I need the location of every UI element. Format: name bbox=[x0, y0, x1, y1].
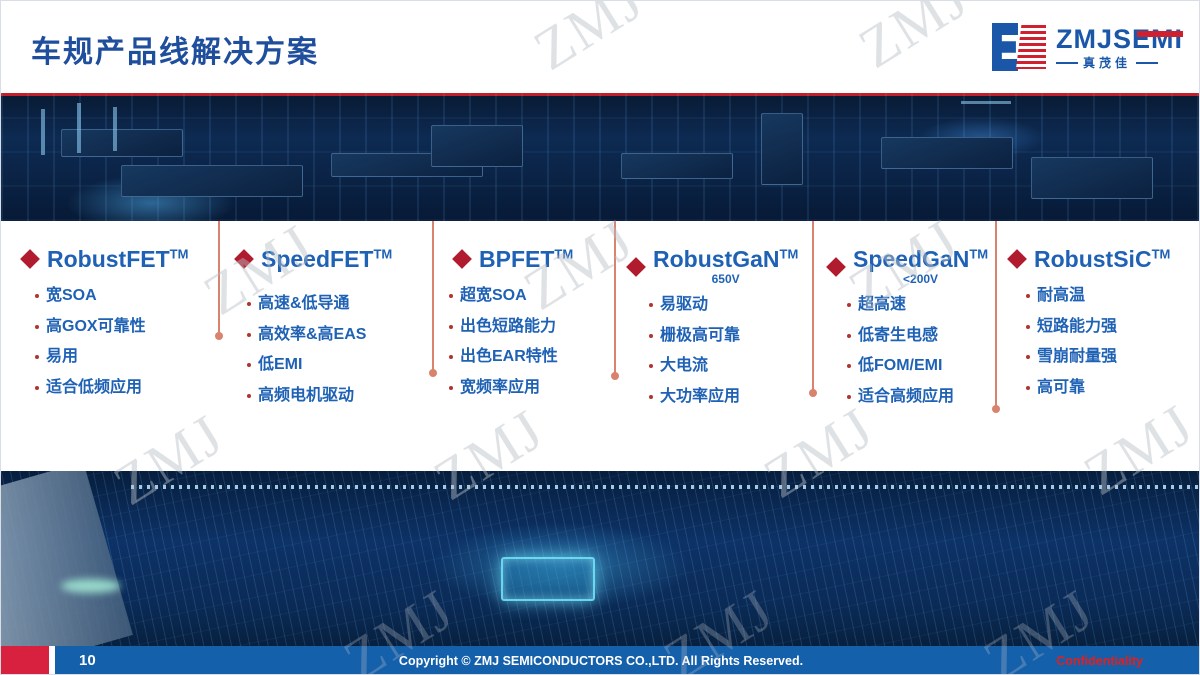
divider-knob-icon bbox=[611, 372, 619, 380]
bullet-dot-icon bbox=[449, 325, 453, 329]
logo-wordmark: ZMJSEMI bbox=[1056, 26, 1183, 53]
feature-list: 超宽SOA 出色短路能力 出色EAR特性 宽频率应用 bbox=[449, 287, 615, 396]
feature-item: 出色EAR特性 bbox=[449, 348, 615, 366]
feature-text: 适合高频应用 bbox=[858, 388, 954, 406]
feature-text: 低FOM/EMI bbox=[858, 357, 942, 375]
feature-list: 耐高温 短路能力强 雪崩耐量强 高可靠 bbox=[1026, 287, 1200, 396]
column-title-block: SpeedGaNTM <200V bbox=[853, 247, 988, 286]
bullet-dot-icon bbox=[847, 334, 851, 338]
bullet-dot-icon bbox=[847, 364, 851, 368]
feature-item: 宽SOA bbox=[35, 287, 219, 305]
column-header: RobustGaNTM 650V bbox=[629, 221, 813, 286]
top-pcb-traces bbox=[1, 93, 1200, 221]
feature-item: 短路能力强 bbox=[1026, 318, 1200, 336]
column-title-block: BPFETTM bbox=[479, 247, 573, 271]
diamond-bullet-icon bbox=[20, 249, 40, 269]
column-divider bbox=[432, 221, 434, 373]
feature-text: 耐高温 bbox=[1037, 287, 1085, 305]
divider-knob-icon bbox=[429, 369, 437, 377]
feature-text: 短路能力强 bbox=[1037, 318, 1117, 336]
product-columns: RobustFETTM 宽SOA 高GOX可靠性 易用 适合低频应用 Speed… bbox=[1, 221, 1200, 471]
product-voltage: 650V bbox=[712, 272, 740, 286]
logo-e-shape bbox=[992, 23, 1018, 71]
company-logo: ZMJSEMI 真茂佳 bbox=[992, 19, 1183, 75]
feature-text: 出色EAR特性 bbox=[460, 348, 558, 366]
feature-text: 高频电机驱动 bbox=[258, 387, 354, 405]
logo-rule-right bbox=[1136, 62, 1158, 64]
bullet-dot-icon bbox=[35, 355, 39, 359]
column-header: RobustFETTM bbox=[23, 221, 219, 271]
bullet-dot-icon bbox=[35, 294, 39, 298]
bullet-dot-icon bbox=[1026, 355, 1030, 359]
slide: 车规产品线解决方案 ZMJSEMI 真茂佳 bbox=[0, 0, 1200, 675]
bullet-dot-icon bbox=[649, 334, 653, 338]
feature-text: 易驱动 bbox=[660, 296, 708, 314]
feature-item: 低寄生电感 bbox=[847, 327, 996, 345]
feature-item: 高效率&高EAS bbox=[247, 326, 433, 344]
logo-chinese-name: 真茂佳 bbox=[1056, 57, 1183, 69]
bullet-dot-icon bbox=[847, 395, 851, 399]
product-column-robustgan[interactable]: RobustGaNTM 650V 易驱动 栅极高可靠 大电流 大功率应用 bbox=[615, 221, 813, 471]
column-divider bbox=[218, 221, 220, 336]
feature-text: 超高速 bbox=[858, 296, 906, 314]
bullet-dot-icon bbox=[649, 395, 653, 399]
diamond-bullet-icon bbox=[626, 257, 646, 277]
page-title: 车规产品线解决方案 bbox=[31, 27, 319, 71]
diamond-bullet-icon bbox=[234, 249, 254, 269]
feature-item: 耐高温 bbox=[1026, 287, 1200, 305]
top-circuit-image bbox=[1, 93, 1200, 221]
column-title-block: RobustGaNTM 650V bbox=[653, 247, 798, 286]
feature-text: 宽频率应用 bbox=[460, 379, 540, 397]
decor-chip bbox=[121, 165, 303, 197]
product-name: RobustSiCTM bbox=[1034, 247, 1170, 271]
feature-text: 宽SOA bbox=[46, 287, 97, 305]
feature-text: 栅极高可靠 bbox=[660, 327, 740, 345]
feature-item: 易驱动 bbox=[649, 296, 813, 314]
diamond-bullet-icon bbox=[826, 257, 846, 277]
decor-pin bbox=[41, 109, 45, 155]
feature-list: 易驱动 栅极高可靠 大电流 大功率应用 bbox=[649, 296, 813, 405]
bottom-pcb-traces bbox=[1, 471, 1200, 646]
decor-chip bbox=[881, 137, 1013, 169]
feature-text: 出色短路能力 bbox=[460, 318, 556, 336]
bullet-dot-icon bbox=[35, 325, 39, 329]
product-name: BPFETTM bbox=[479, 247, 573, 271]
feature-list: 超高速 低寄生电感 低FOM/EMI 适合高频应用 bbox=[847, 296, 996, 405]
column-title-block: RobustSiCTM bbox=[1034, 247, 1170, 271]
logo-chinese-text: 真茂佳 bbox=[1083, 57, 1131, 69]
decor-pin bbox=[77, 103, 81, 153]
bullet-dot-icon bbox=[247, 394, 251, 398]
feature-text: 适合低频应用 bbox=[46, 379, 142, 397]
columns-row: RobustFETTM 宽SOA 高GOX可靠性 易用 适合低频应用 Speed… bbox=[1, 221, 1200, 471]
feature-text: 高可靠 bbox=[1037, 379, 1085, 397]
column-divider bbox=[614, 221, 616, 376]
feature-text: 高效率&高EAS bbox=[258, 326, 366, 344]
product-name: RobustGaNTM bbox=[653, 247, 798, 271]
confidentiality-label: Confidentiality bbox=[1056, 654, 1143, 668]
bullet-dot-icon bbox=[449, 294, 453, 298]
bullet-dot-icon bbox=[449, 386, 453, 390]
zmj-e-mark-icon bbox=[992, 23, 1046, 71]
bullet-dot-icon bbox=[847, 303, 851, 307]
decor-trace bbox=[961, 101, 1011, 104]
feature-text: 易用 bbox=[46, 348, 78, 366]
bullet-dot-icon bbox=[247, 363, 251, 367]
light-flare bbox=[61, 579, 121, 593]
product-column-robustfet[interactable]: RobustFETTM 宽SOA 高GOX可靠性 易用 适合低频应用 bbox=[1, 221, 219, 471]
bullet-dot-icon bbox=[449, 355, 453, 359]
slide-footer: 10 Copyright © ZMJ SEMICONDUCTORS CO.,LT… bbox=[1, 646, 1200, 675]
decor-chip bbox=[1031, 157, 1153, 199]
divider-knob-icon bbox=[215, 332, 223, 340]
diamond-bullet-icon bbox=[452, 249, 472, 269]
copyright-text: Copyright © ZMJ SEMICONDUCTORS CO.,LTD. … bbox=[1, 654, 1200, 668]
feature-text: 大功率应用 bbox=[660, 388, 740, 406]
product-name: SpeedGaNTM bbox=[853, 247, 988, 271]
column-divider bbox=[812, 221, 814, 393]
feature-text: 高GOX可靠性 bbox=[46, 318, 146, 336]
bullet-dot-icon bbox=[1026, 386, 1030, 390]
logo-red-accent bbox=[1137, 31, 1183, 37]
divider-knob-icon bbox=[809, 389, 817, 397]
feature-item: 低FOM/EMI bbox=[847, 357, 996, 375]
bullet-dot-icon bbox=[649, 303, 653, 307]
feature-item: 高GOX可靠性 bbox=[35, 318, 219, 336]
product-column-bpfet[interactable]: BPFETTM 超宽SOA 出色短路能力 出色EAR特性 宽频率应用 bbox=[433, 221, 615, 471]
bullet-dot-icon bbox=[247, 333, 251, 337]
feature-item: 超高速 bbox=[847, 296, 996, 314]
product-voltage: <200V bbox=[903, 272, 938, 286]
feature-list: 高速&低导通 高效率&高EAS 低EMI 高频电机驱动 bbox=[247, 295, 433, 404]
logo-rule-left bbox=[1056, 62, 1078, 64]
feature-item: 雪崩耐量强 bbox=[1026, 348, 1200, 366]
divider-knob-icon bbox=[992, 405, 1000, 413]
product-column-speedfet[interactable]: SpeedFETTM 高速&低导通 高效率&高EAS 低EMI 高频电机驱动 bbox=[219, 221, 433, 471]
feature-item: 大功率应用 bbox=[649, 388, 813, 406]
feature-text: 超宽SOA bbox=[460, 287, 527, 305]
feature-item: 适合低频应用 bbox=[35, 379, 219, 397]
feature-text: 高速&低导通 bbox=[258, 295, 350, 313]
feature-item: 高速&低导通 bbox=[247, 295, 433, 313]
bullet-dot-icon bbox=[247, 302, 251, 306]
column-header: RobustSiCTM bbox=[1010, 221, 1200, 271]
decor-pin bbox=[113, 107, 117, 151]
product-column-robustsic[interactable]: RobustSiCTM 耐高温 短路能力强 雪崩耐量强 高可靠 bbox=[996, 221, 1200, 471]
feature-text: 大电流 bbox=[660, 357, 708, 375]
feature-item: 大电流 bbox=[649, 357, 813, 375]
column-divider bbox=[995, 221, 997, 409]
feature-item: 出色短路能力 bbox=[449, 318, 615, 336]
column-header: SpeedFETTM bbox=[237, 221, 433, 271]
product-column-speedgan[interactable]: SpeedGaNTM <200V 超高速 低寄生电感 低FOM/EMI 适合高频… bbox=[813, 221, 996, 471]
pcb-contact-row bbox=[131, 485, 1200, 489]
decor-chip bbox=[621, 153, 733, 179]
feature-item: 高频电机驱动 bbox=[247, 387, 433, 405]
feature-item: 宽频率应用 bbox=[449, 379, 615, 397]
bullet-dot-icon bbox=[35, 386, 39, 390]
product-name: RobustFETTM bbox=[47, 247, 188, 271]
decor-chip bbox=[761, 113, 803, 185]
bullet-dot-icon bbox=[1026, 294, 1030, 298]
slide-header: 车规产品线解决方案 ZMJSEMI 真茂佳 bbox=[1, 1, 1200, 93]
feature-text: 雪崩耐量强 bbox=[1037, 348, 1117, 366]
feature-item: 高可靠 bbox=[1026, 379, 1200, 397]
feature-item: 适合高频应用 bbox=[847, 388, 996, 406]
diamond-bullet-icon bbox=[1007, 249, 1027, 269]
decor-chip bbox=[431, 125, 523, 167]
feature-item: 低EMI bbox=[247, 356, 433, 374]
bullet-dot-icon bbox=[1026, 325, 1030, 329]
feature-text: 低EMI bbox=[258, 356, 302, 374]
glowing-chip-icon bbox=[501, 557, 595, 601]
product-name: SpeedFETTM bbox=[261, 247, 392, 271]
column-header: BPFETTM bbox=[455, 221, 615, 271]
feature-item: 栅极高可靠 bbox=[649, 327, 813, 345]
feature-text: 低寄生电感 bbox=[858, 327, 938, 345]
bottom-circuit-image bbox=[1, 471, 1200, 646]
logo-stripe-bars bbox=[1016, 25, 1046, 69]
column-title-block: RobustFETTM bbox=[47, 247, 188, 271]
bullet-dot-icon bbox=[649, 364, 653, 368]
column-title-block: SpeedFETTM bbox=[261, 247, 392, 271]
column-header: SpeedGaNTM <200V bbox=[829, 221, 996, 286]
feature-item: 超宽SOA bbox=[449, 287, 615, 305]
feature-item: 易用 bbox=[35, 348, 219, 366]
feature-list: 宽SOA 高GOX可靠性 易用 适合低频应用 bbox=[35, 287, 219, 396]
